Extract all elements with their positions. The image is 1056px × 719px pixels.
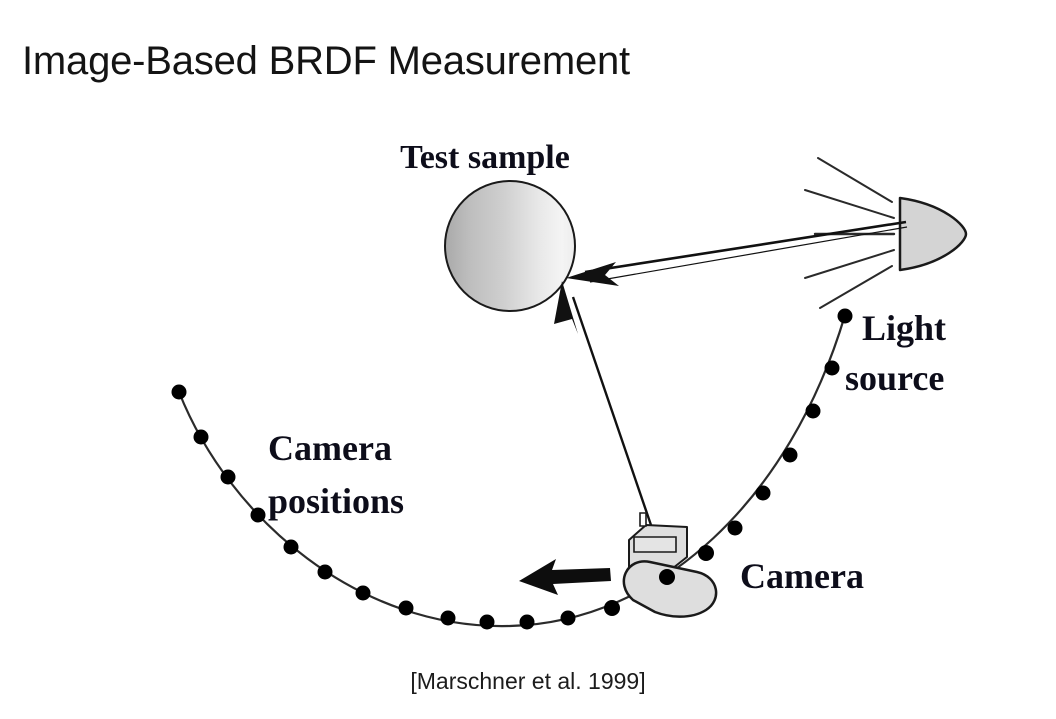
light-source-label-line1: Light [862, 308, 946, 348]
figure-citation: [Marschner et al. 1999] [0, 668, 1056, 695]
light-ray-icon [805, 250, 894, 278]
camera-position-dot[interactable] [756, 486, 771, 501]
camera-position-dot[interactable] [604, 600, 620, 616]
camera-viewfinder [640, 513, 646, 526]
light-source-label-line2: source [845, 358, 944, 398]
camera-position-dot[interactable] [728, 521, 743, 536]
camera-position-dot[interactable] [838, 309, 853, 324]
test-sample-sphere [445, 181, 575, 311]
camera-position-dot[interactable] [561, 611, 576, 626]
light-source-body [900, 198, 966, 270]
camera-position-dot[interactable] [825, 361, 840, 376]
camera-position-dot[interactable] [441, 611, 456, 626]
camera-position-dot[interactable] [251, 508, 266, 523]
test-sample-label: Test sample [400, 139, 570, 176]
camera-position-dot[interactable] [194, 430, 209, 445]
camera-lens-ring [634, 537, 676, 552]
sample-to-camera-ray [554, 281, 652, 528]
camera-position-dot[interactable] [284, 540, 299, 555]
camera-position-dot[interactable] [783, 448, 798, 463]
camera-device[interactable] [624, 513, 716, 617]
camera-positions-label-line2: positions [268, 481, 404, 521]
figure-container: Test sample [0, 100, 1056, 660]
light-ray-icon [820, 266, 892, 308]
camera-position-dot[interactable] [806, 404, 821, 419]
camera-position-dot[interactable] [399, 601, 414, 616]
camera-position-dot[interactable] [356, 586, 371, 601]
camera-position-dot[interactable] [172, 385, 187, 400]
light-ray-icon [818, 158, 892, 202]
camera-position-dot[interactable] [480, 615, 495, 630]
motion-direction-arrow-icon [519, 559, 611, 595]
arrowhead-icon [566, 262, 619, 286]
camera-position-dot[interactable] [221, 470, 236, 485]
camera-position-dot[interactable] [698, 545, 714, 561]
page-title: Image-Based BRDF Measurement [22, 39, 630, 84]
camera-position-dot[interactable] [318, 565, 333, 580]
camera-label: Camera [740, 556, 864, 596]
camera-position-dot[interactable] [520, 615, 535, 630]
brdf-measurement-diagram: Test sample [0, 100, 1056, 660]
slide-canvas: Image-Based BRDF Measurement Test sample [0, 0, 1056, 719]
camera-center-dot [659, 569, 675, 585]
light-to-sample-ray [566, 222, 907, 286]
camera-positions-label-line1: Camera [268, 428, 392, 468]
